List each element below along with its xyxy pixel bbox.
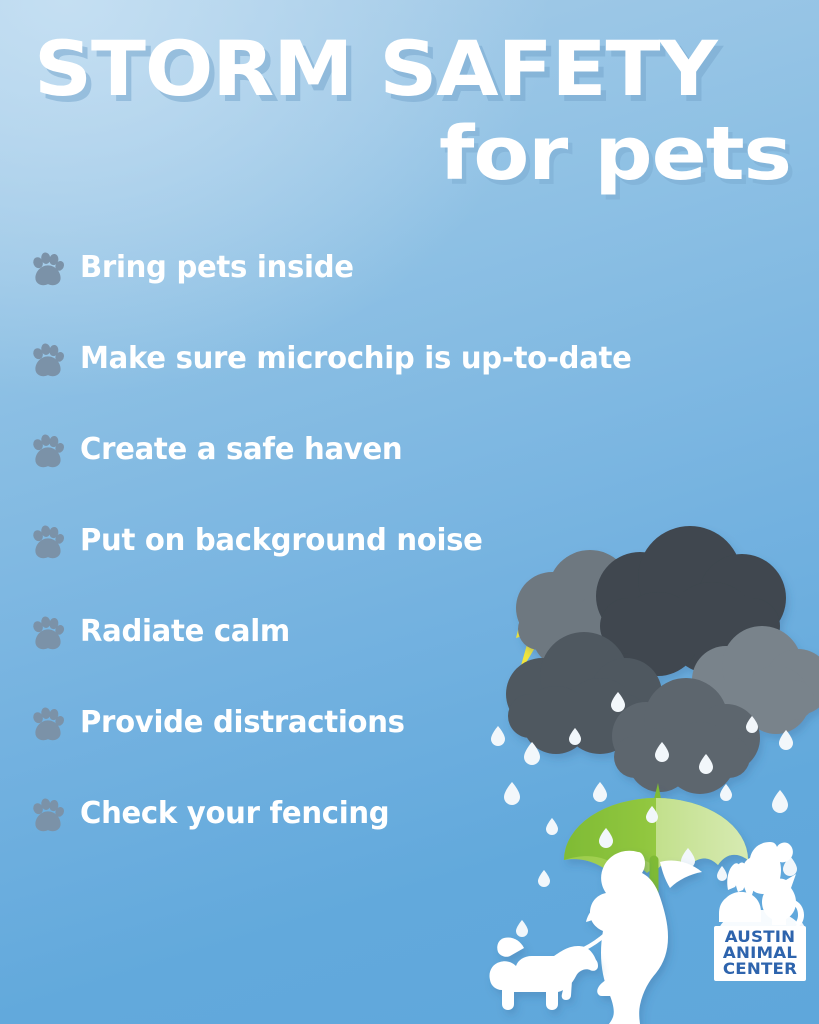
- list-item: Check your fencing: [30, 768, 790, 859]
- list-item: Provide distractions: [30, 677, 790, 768]
- paw-icon: [30, 615, 66, 651]
- paw-icon: [30, 251, 66, 287]
- tips-list: Bring pets inside Make sure microchip is…: [30, 222, 790, 859]
- logo-line-3: CENTER: [712, 961, 808, 977]
- logo-wordmark: AUSTIN ANIMAL CENTER: [714, 926, 806, 981]
- title-block: STORM SAFETY for pets: [0, 28, 819, 198]
- girl-silhouette-icon: [586, 851, 702, 1024]
- leash-line: [562, 934, 606, 956]
- page-title: STORM SAFETY: [34, 28, 717, 110]
- list-item: Radiate calm: [30, 586, 790, 677]
- list-item: Create a safe haven: [30, 404, 790, 495]
- list-item-label: Provide distractions: [80, 706, 405, 740]
- list-item: Put on background noise: [30, 495, 790, 586]
- list-item-label: Check your fencing: [80, 797, 389, 831]
- page-subtitle: for pets: [439, 114, 791, 194]
- paw-icon: [30, 797, 66, 833]
- list-item-label: Bring pets inside: [80, 251, 354, 285]
- paw-icon: [30, 342, 66, 378]
- paw-icon: [30, 524, 66, 560]
- list-item-label: Radiate calm: [80, 615, 290, 649]
- paw-icon: [30, 433, 66, 469]
- austin-animal-center-logo[interactable]: AUSTIN ANIMAL CENTER: [706, 842, 814, 970]
- list-item: Bring pets inside: [30, 222, 790, 313]
- logo-animals: [706, 842, 814, 934]
- list-item-label: Make sure microchip is up-to-date: [80, 342, 632, 376]
- poster-canvas: STORM SAFETY for pets Bring pets inside: [0, 0, 819, 1024]
- list-item: Make sure microchip is up-to-date: [30, 313, 790, 404]
- list-item-label: Put on background noise: [80, 524, 483, 558]
- dog-silhouette-icon: [489, 937, 598, 1010]
- list-item-label: Create a safe haven: [80, 433, 402, 467]
- paw-icon: [30, 706, 66, 742]
